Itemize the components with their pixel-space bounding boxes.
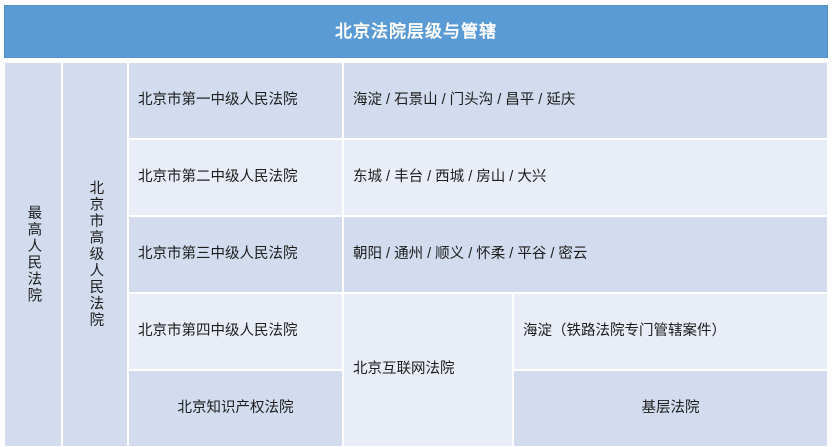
cell-jurisdiction-1: 海淀 / 石景山 / 门头沟 / 昌平 / 延庆 [343, 62, 828, 139]
cell-jurisdiction-4: 海淀（铁路法院专门管辖案件） [513, 293, 828, 370]
court-name-1: 北京市第一中级人民法院 [138, 90, 298, 112]
cell-high-court: 北京市高级人民法院 [62, 62, 128, 447]
court-name-4: 北京市第四中级人民法院 [138, 321, 298, 343]
court-hierarchy-table: 最高人民法院 北京市高级人民法院 北京市第一中级人民法院 北京市第二中级人民法院… [4, 62, 828, 447]
cell-court-name-5: 北京知识产权法院 [128, 370, 343, 447]
court-name-3: 北京市第三中级人民法院 [138, 244, 298, 266]
court-hierarchy-sheet: 北京法院层级与管辖 最高人民法院 北京市高级人民法院 北京市第一中级人民法院 北… [0, 0, 840, 447]
jurisdiction-5: 基层法院 [642, 398, 700, 420]
cell-supreme-court: 最高人民法院 [4, 62, 62, 447]
jurisdiction-2: 东城 / 丰台 / 西城 / 房山 / 大兴 [353, 167, 546, 189]
cell-jurisdiction-3: 朝阳 / 通州 / 顺义 / 怀柔 / 平谷 / 密云 [343, 216, 828, 293]
court-name-2: 北京市第二中级人民法院 [138, 167, 298, 189]
cell-court-name-3: 北京市第三中级人民法院 [128, 216, 343, 293]
cell-jurisdiction-2: 东城 / 丰台 / 西城 / 房山 / 大兴 [343, 139, 828, 216]
cell-internet-court: 北京互联网法院 [343, 293, 513, 447]
cell-court-name-4: 北京市第四中级人民法院 [128, 293, 343, 370]
page-title-banner: 北京法院层级与管辖 [4, 5, 828, 58]
jurisdiction-4: 海淀（铁路法院专门管辖案件） [523, 321, 726, 343]
jurisdiction-1: 海淀 / 石景山 / 门头沟 / 昌平 / 延庆 [353, 90, 575, 112]
cell-jurisdiction-5: 基层法院 [513, 370, 828, 447]
jurisdiction-3: 朝阳 / 通州 / 顺义 / 怀柔 / 平谷 / 密云 [353, 244, 587, 266]
cell-court-name-1: 北京市第一中级人民法院 [128, 62, 343, 139]
high-court-label: 北京市高级人民法院 [87, 180, 104, 329]
cell-court-name-2: 北京市第二中级人民法院 [128, 139, 343, 216]
internet-court-label: 北京互联网法院 [353, 359, 455, 381]
supreme-court-label: 最高人民法院 [25, 205, 42, 304]
court-name-5: 北京知识产权法院 [178, 398, 294, 420]
page-title: 北京法院层级与管辖 [335, 23, 497, 40]
